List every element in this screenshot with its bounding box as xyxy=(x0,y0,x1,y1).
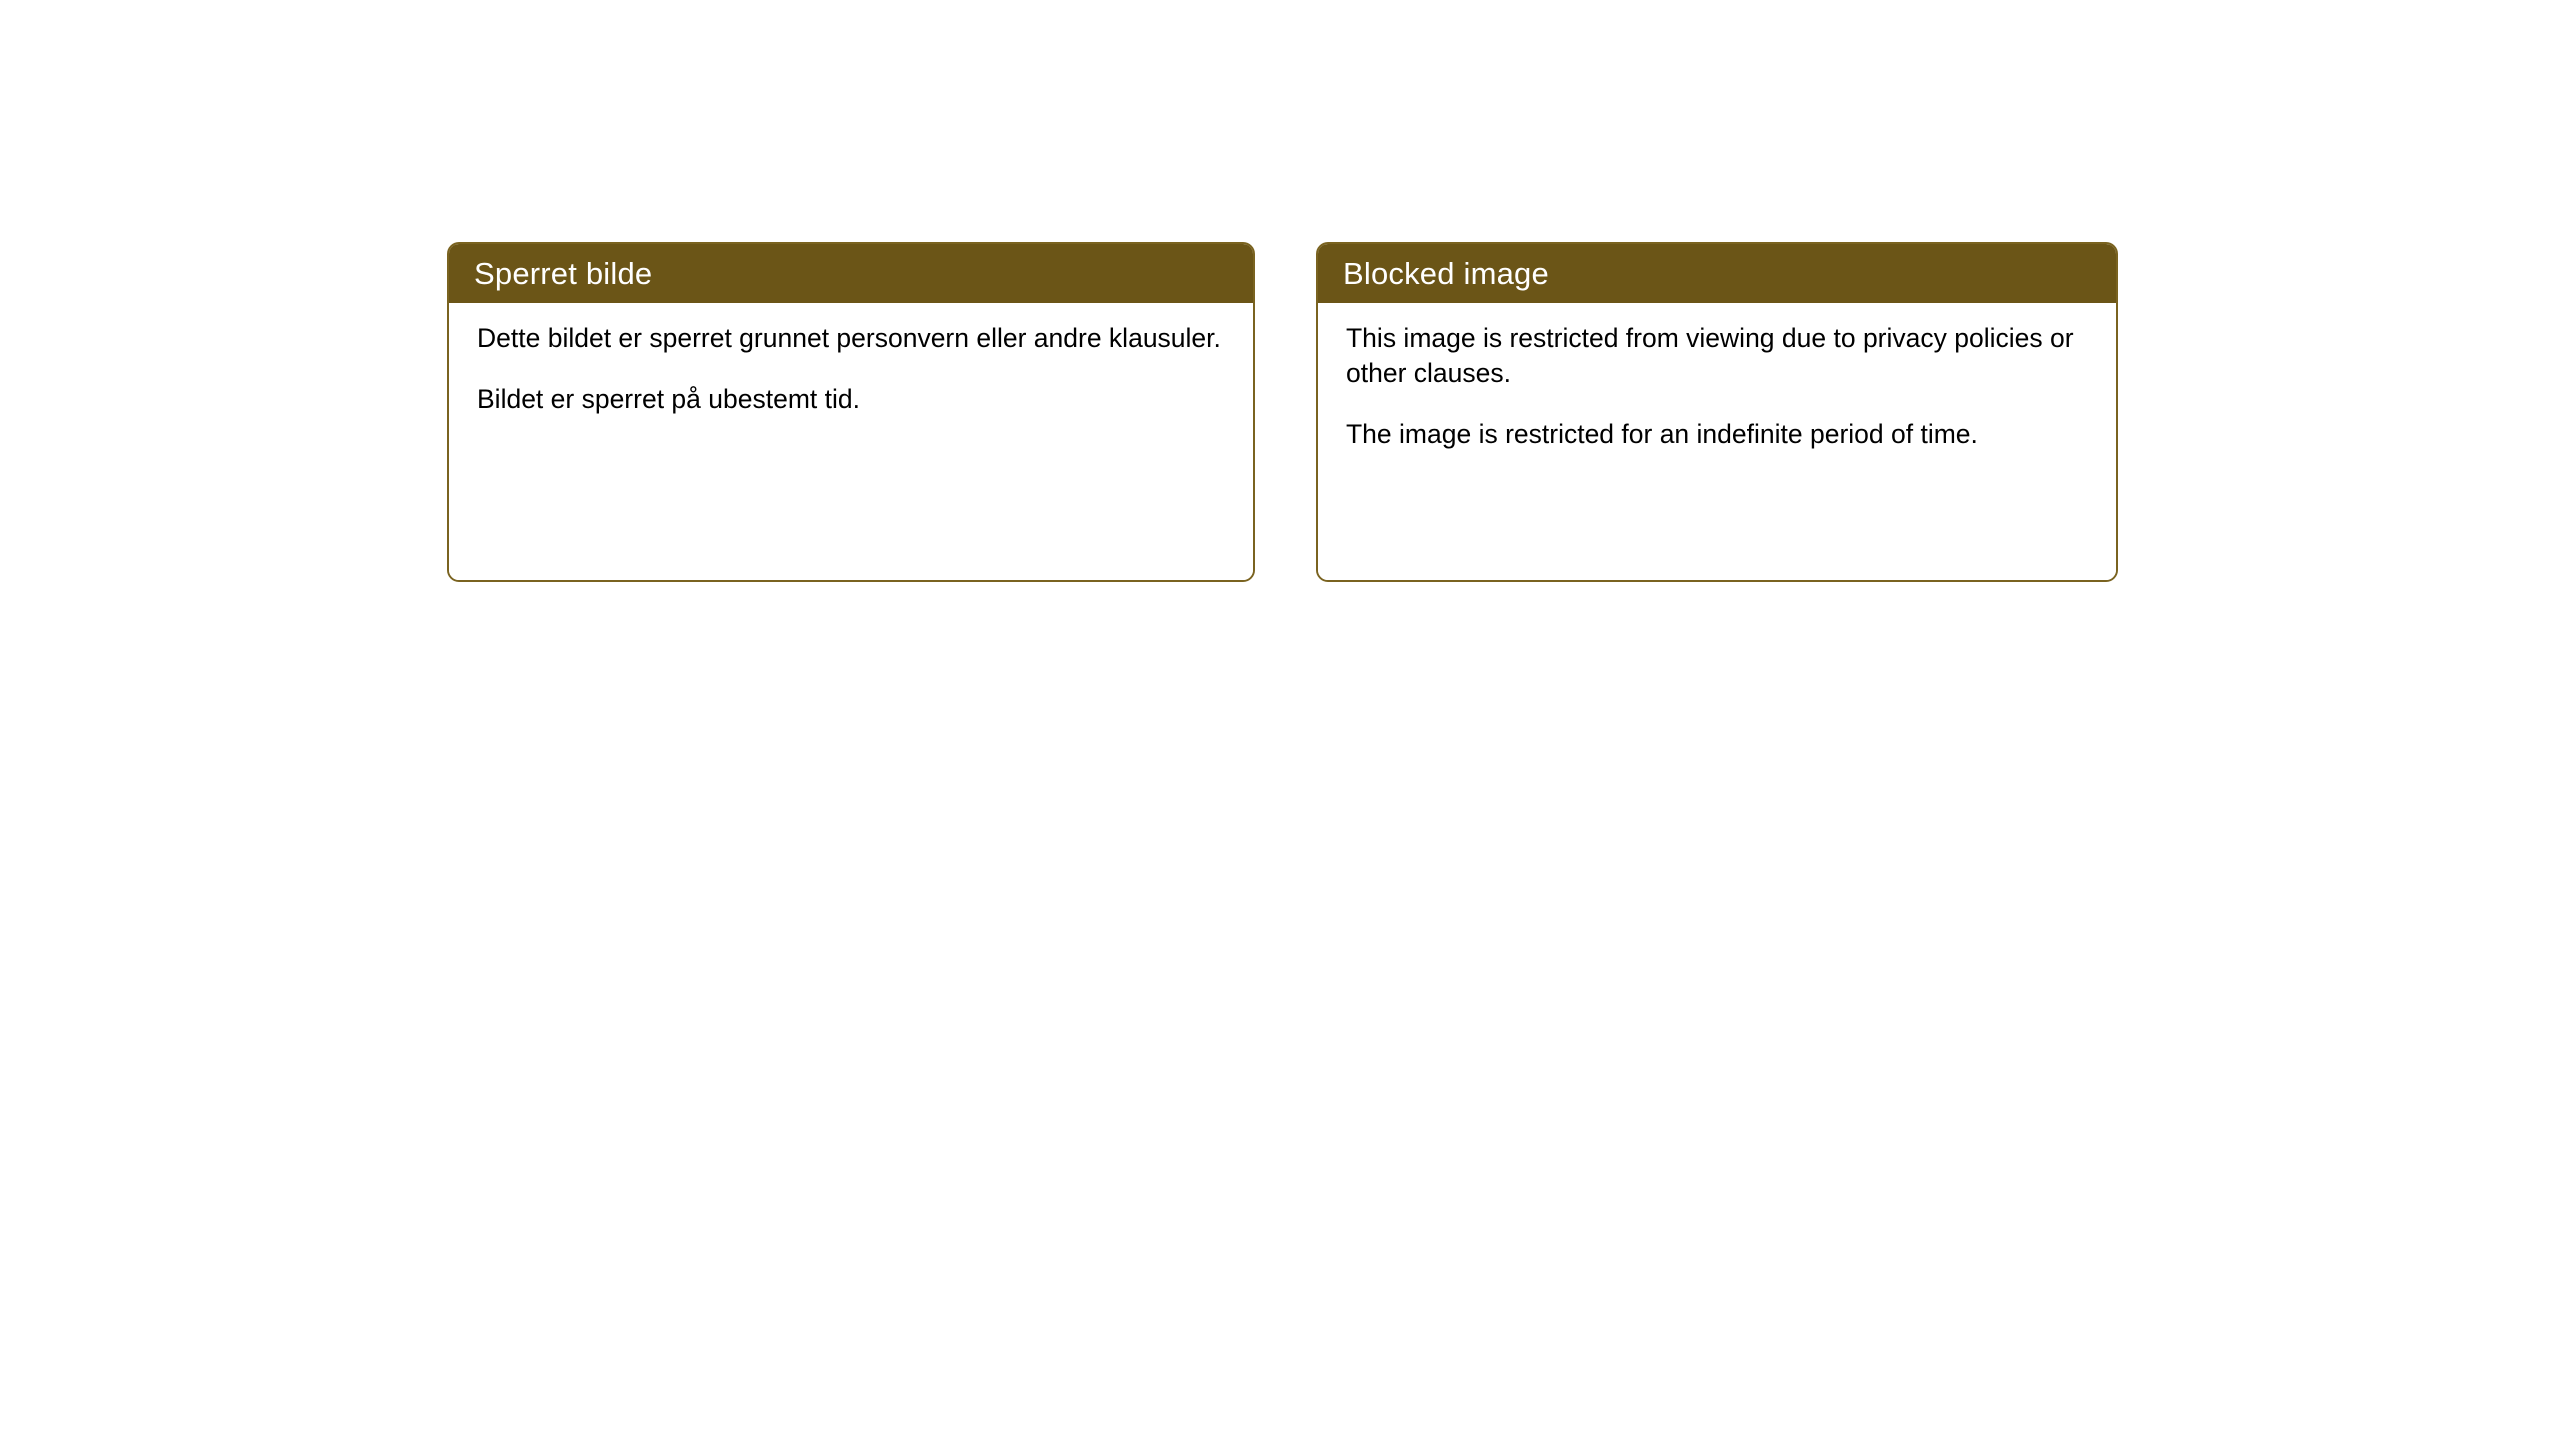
blocked-image-notice-area: Sperret bilde Dette bildet er sperret gr… xyxy=(447,242,2118,582)
card-paragraph-secondary-norwegian: Bildet er sperret på ubestemt tid. xyxy=(477,382,1227,417)
blocked-image-card-english: Blocked image This image is restricted f… xyxy=(1316,242,2118,582)
blocked-image-card-norwegian: Sperret bilde Dette bildet er sperret gr… xyxy=(447,242,1255,582)
card-title-english: Blocked image xyxy=(1343,258,1549,289)
card-title-norwegian: Sperret bilde xyxy=(474,258,652,289)
card-paragraph-primary-norwegian: Dette bildet er sperret grunnet personve… xyxy=(477,321,1227,356)
card-paragraph-primary-english: This image is restricted from viewing du… xyxy=(1346,321,2090,391)
card-body-english: This image is restricted from viewing du… xyxy=(1318,303,2116,580)
card-paragraph-secondary-english: The image is restricted for an indefinit… xyxy=(1346,417,2090,452)
card-header-norwegian: Sperret bilde xyxy=(448,243,1254,303)
card-body-norwegian: Dette bildet er sperret grunnet personve… xyxy=(449,303,1253,580)
card-header-english: Blocked image xyxy=(1317,243,2117,303)
